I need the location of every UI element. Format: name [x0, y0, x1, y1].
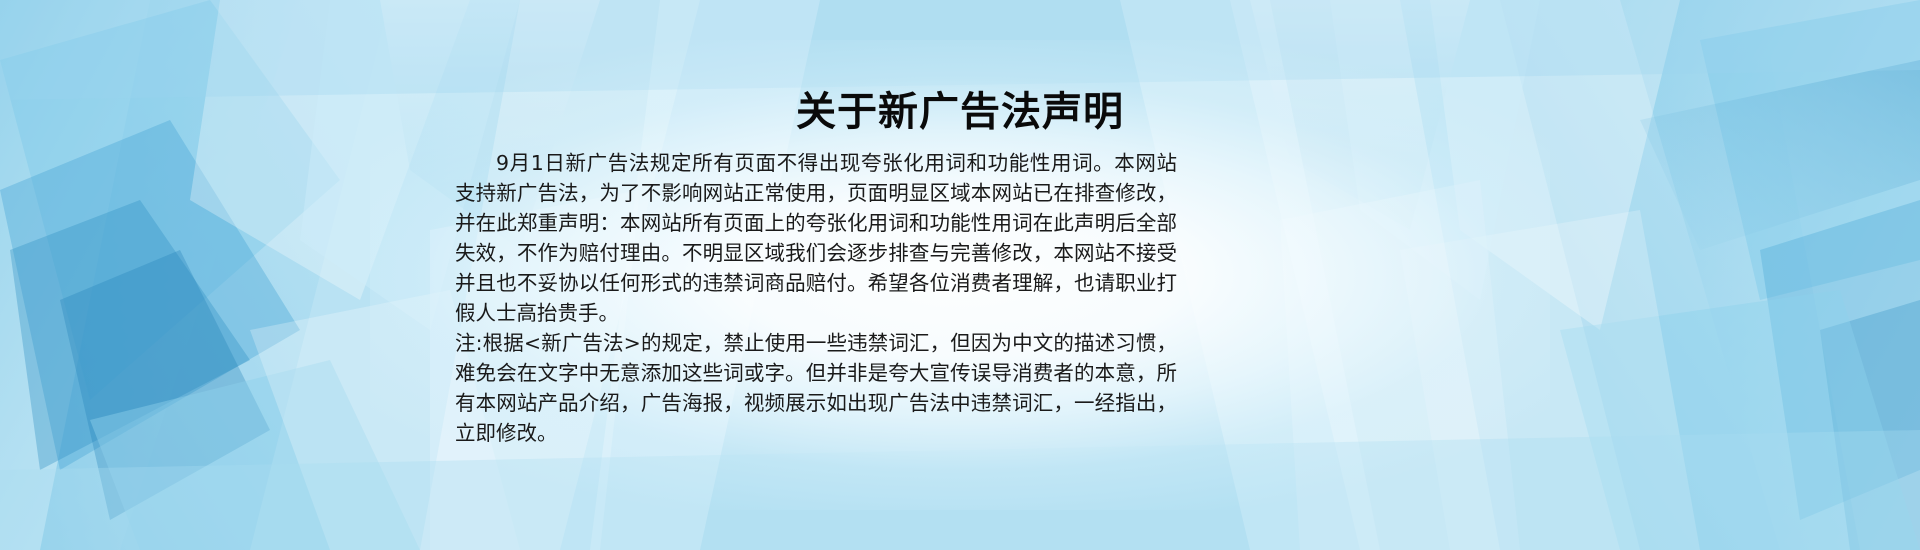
advertising-law-statement-banner: 关于新广告法声明 9月1日新广告法规定所有页面不得出现夸张化用词和功能性用词。本…	[0, 0, 1920, 550]
statement-body: 9月1日新广告法规定所有页面不得出现夸张化用词和功能性用词。本网站支持新广告法，…	[455, 148, 1177, 448]
statement-content: 关于新广告法声明 9月1日新广告法规定所有页面不得出现夸张化用词和功能性用词。本…	[0, 0, 1920, 550]
statement-paragraph-2: 注:根据<新广告法>的规定，禁止使用一些违禁词汇，但因为中文的描述习惯，难免会在…	[455, 328, 1177, 448]
statement-paragraph-1: 9月1日新广告法规定所有页面不得出现夸张化用词和功能性用词。本网站支持新广告法，…	[455, 148, 1177, 328]
page-title: 关于新广告法声明	[0, 88, 1920, 136]
